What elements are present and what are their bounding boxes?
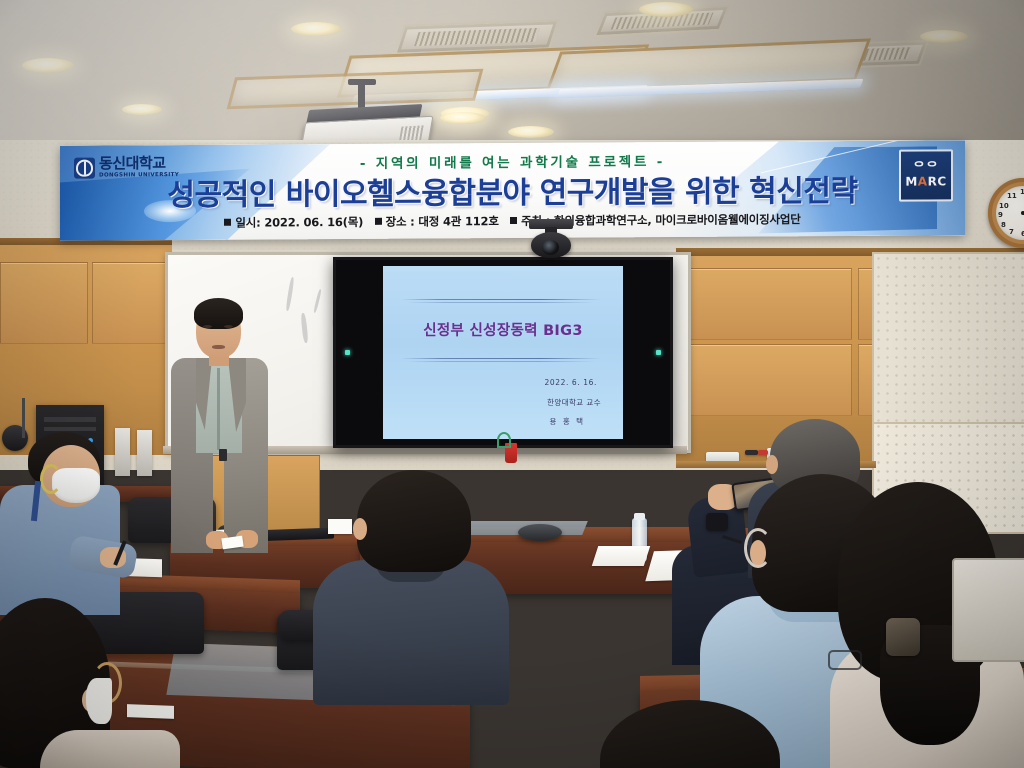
- slide-date: 2022. 6. 16.: [544, 378, 597, 387]
- presenter-eye-left: [203, 325, 212, 328]
- audience-center-hair: [357, 470, 471, 572]
- desk-speaker-left: [115, 428, 130, 476]
- audience-gray-ear: [766, 455, 778, 474]
- white-board-right-edge: [952, 558, 1024, 662]
- wood-panel-left-2: [92, 262, 174, 344]
- slide-rule-top2: [407, 302, 595, 303]
- clock-tick-9: 9: [998, 211, 1003, 219]
- papers-right-desk: [592, 546, 650, 566]
- clock-tick-12: 12: [1020, 188, 1024, 196]
- smartwatch: [706, 513, 728, 531]
- ptz-camera-lens-icon: [542, 240, 559, 255]
- clock-tick-7: 7: [1009, 228, 1014, 236]
- mic-stand: [22, 398, 25, 438]
- hair-clip-icon: [886, 618, 920, 656]
- slide-presenter-name: 용 홍 택: [550, 416, 585, 427]
- presenter-eye-right: [224, 325, 233, 328]
- audience-center-ear: [353, 518, 367, 540]
- projection-screen: 신정부 신성장동력 BIG3 2022. 6. 16. 한양대학교 교수 용 홍…: [333, 257, 673, 448]
- audience-woman-left-mask: [86, 678, 112, 724]
- slide-affiliation: 한양대학교 교수: [547, 397, 601, 408]
- banner-host-value: 한의융합과학연구소, 마이크로바이옴웰에이징사업단: [554, 212, 801, 228]
- banner-date-value: 2022. 06. 16(목): [264, 215, 363, 230]
- wood-panel-right-1: [690, 268, 852, 340]
- desk-speaker-right: [137, 430, 152, 476]
- banner-date-label: 일시:: [235, 216, 260, 230]
- screen-led-left: [345, 350, 350, 355]
- audience-blue-mask-loop: [744, 528, 772, 568]
- acoustic-panel-upper: [872, 252, 1024, 424]
- clock-tick-8: 8: [1001, 221, 1006, 229]
- screen-led-right: [656, 350, 661, 355]
- whiteboard-smudge-1: [285, 277, 294, 311]
- presenter-mouth: [212, 345, 225, 349]
- bullet-square-icon-1: [224, 219, 231, 226]
- presentation-slide: 신정부 신성장동력 BIG3 2022. 6. 16. 한양대학교 교수 용 홍…: [383, 266, 623, 439]
- marker-pen-1: [745, 450, 758, 455]
- audience-ponytail-glasses-icon: [828, 650, 862, 670]
- bullet-square-icon-2: [375, 218, 382, 225]
- bullet-square-icon-3: [510, 217, 517, 224]
- wood-panel-right-3: [690, 344, 852, 416]
- slide-rule-top: [401, 299, 601, 300]
- whiteboard-smudge-3: [313, 289, 322, 313]
- slide-rule-bottom: [401, 358, 601, 359]
- whiteboard-smudge-2: [300, 313, 308, 343]
- clock-tick-11: 11: [1007, 192, 1017, 200]
- clock-face: 12 11 10 9 8 7 6: [996, 186, 1024, 240]
- slide-rule-bottom2: [407, 361, 595, 362]
- ceiling-shading: [0, 0, 1024, 152]
- presenter-hair: [194, 298, 243, 329]
- scissors-icon: [497, 432, 511, 448]
- banner-place-label: 장소 :: [386, 215, 415, 229]
- presenter-shirt-placket: [217, 368, 220, 450]
- name-card-foreground: [127, 704, 174, 719]
- clock-tick-10: 10: [999, 202, 1009, 210]
- conference-speakerphone: [518, 524, 562, 541]
- presenter-lanyard: [219, 449, 227, 461]
- audience-woman-left-shoulder: [40, 730, 180, 768]
- water-bottle-cap: [634, 513, 645, 520]
- conference-room-photo: 동신대학교 DONGSHIN UNIVERSITY ᄋᄋ MARC - 지역의 …: [0, 0, 1024, 768]
- slide-title: 신정부 신성장동력 BIG3: [383, 319, 623, 340]
- name-card-placard: [328, 519, 352, 534]
- pc-front-panel: [44, 427, 96, 431]
- banner-place-value: 대정 4관 112호: [418, 214, 498, 228]
- marker-pen-2: [758, 450, 768, 455]
- audience-writer-earloop: [40, 464, 62, 494]
- event-banner: 동신대학교 DONGSHIN UNIVERSITY ᄋᄋ MARC - 지역의 …: [60, 140, 965, 241]
- pc-drive-bay: [44, 417, 96, 422]
- wood-panel-left-1: [0, 262, 88, 344]
- banner-main-title: 성공적인 바이오헬스융합분야 연구개발을 위한 혁신전략: [60, 165, 965, 215]
